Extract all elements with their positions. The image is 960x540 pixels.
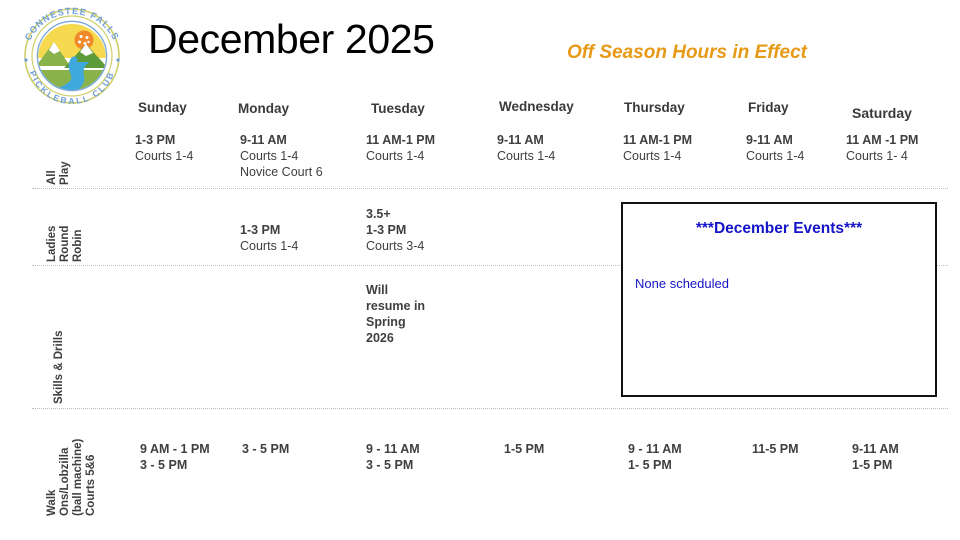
schedule-cell-line: Courts 1-4	[497, 148, 555, 164]
schedule-cell-line: 1-3 PM	[366, 222, 424, 238]
schedule-cell-line: resume in	[366, 298, 425, 314]
schedule-cell-line: 2026	[366, 330, 425, 346]
schedule-cell: 11 AM -1 PMCourts 1- 4	[846, 132, 918, 164]
row-label-line: (ball machine)	[72, 439, 85, 516]
row-label-line: Play	[59, 161, 72, 185]
row-label-line: Skills & Drills	[53, 330, 66, 404]
row-separator-0	[32, 188, 948, 189]
schedule-cell-line: 1-5 PM	[852, 457, 899, 473]
schedule-cell-line: Courts 1-4	[366, 148, 435, 164]
row-label-line: Robin	[72, 226, 85, 262]
day-header-friday: Friday	[748, 100, 789, 115]
row-label-line: Round	[59, 226, 72, 262]
schedule-cell: 9-11 AMCourts 1-4	[746, 132, 804, 164]
schedule-cell: 9-11 AMCourts 1-4Novice Court 6	[240, 132, 323, 180]
page-title: December 2025	[148, 19, 435, 60]
schedule-cell: 1-3 PMCourts 1-4	[240, 222, 298, 254]
schedule-cell-line: Courts 1-4	[135, 148, 193, 164]
schedule-cell: 3.5+1-3 PMCourts 3-4	[366, 206, 424, 254]
row-label-2: Skills & Drills	[53, 330, 66, 404]
schedule-cell-line: 9-11 AM	[852, 441, 899, 457]
schedule-cell: 9-11 AM1-5 PM	[852, 441, 899, 473]
schedule-cell-line: 1-3 PM	[135, 132, 193, 148]
day-header-wednesday: Wednesday	[499, 99, 574, 114]
schedule-cell-line: Courts 1-4	[746, 148, 804, 164]
row-label-3: WalkOns/Lobzilla(ball machine)Courts 5&6	[46, 439, 98, 516]
schedule-cell-line: 3 - 5 PM	[140, 457, 210, 473]
schedule-cell: 1-3 PMCourts 1-4	[135, 132, 193, 164]
calendar-page: CONNESTEE FALLS PICKLEBALL CLUB December…	[0, 0, 960, 540]
schedule-cell-line: Courts 3-4	[366, 238, 424, 254]
schedule-cell-line: 11 AM-1 PM	[623, 132, 692, 148]
schedule-cell-line: 9 AM - 1 PM	[140, 441, 210, 457]
schedule-cell: Willresume inSpring2026	[366, 282, 425, 346]
schedule-cell-line: Courts 1- 4	[846, 148, 918, 164]
schedule-cell-line: Courts 1-4	[240, 148, 323, 164]
day-header-thursday: Thursday	[624, 100, 685, 115]
schedule-cell-line: Courts 1-4	[623, 148, 692, 164]
day-header-monday: Monday	[238, 101, 289, 116]
schedule-cell-line: 1-5 PM	[504, 441, 544, 457]
schedule-cell-line: Spring	[366, 314, 425, 330]
schedule-cell: 9 AM - 1 PM3 - 5 PM	[140, 441, 210, 473]
schedule-cell: 1-5 PM	[504, 441, 544, 457]
december-events-box: ***December Events*** None scheduled	[621, 202, 937, 397]
day-header-sunday: Sunday	[138, 100, 187, 115]
row-label-line: Courts 5&6	[85, 439, 98, 516]
schedule-cell-line: 9-11 AM	[240, 132, 323, 148]
schedule-cell: 3 - 5 PM	[242, 441, 289, 457]
schedule-cell: 11 AM-1 PMCourts 1-4	[366, 132, 435, 164]
events-box-body: None scheduled	[635, 276, 729, 291]
schedule-cell: 9 - 11 AM1- 5 PM	[628, 441, 682, 473]
day-header-tuesday: Tuesday	[371, 101, 425, 116]
schedule-cell-line: 9 - 11 AM	[366, 441, 420, 457]
row-label-line: Ladies	[46, 226, 59, 262]
schedule-cell-line: 9 - 11 AM	[628, 441, 682, 457]
schedule-cell-line: Will	[366, 282, 425, 298]
schedule-cell-line: Novice Court 6	[240, 164, 323, 180]
schedule-cell: 9 - 11 AM3 - 5 PM	[366, 441, 420, 473]
events-box-title: ***December Events***	[623, 220, 935, 238]
schedule-cell-line: 1- 5 PM	[628, 457, 682, 473]
schedule-cell-line: 3.5+	[366, 206, 424, 222]
row-label-1: LadiesRoundRobin	[46, 226, 85, 262]
row-label-line: Walk	[46, 439, 59, 516]
schedule-cell-line: 3 - 5 PM	[366, 457, 420, 473]
row-label-0: AllPlay	[46, 161, 72, 185]
schedule-cell-line: 3 - 5 PM	[242, 441, 289, 457]
schedule-cell: 11 AM-1 PMCourts 1-4	[623, 132, 692, 164]
schedule-cell-line: 9-11 AM	[746, 132, 804, 148]
season-notice: Off Season Hours in Effect	[567, 42, 807, 64]
schedule-cell: 11-5 PM	[752, 441, 799, 457]
schedule-cell-line: 11-5 PM	[752, 441, 799, 457]
row-label-line: All	[46, 161, 59, 185]
connestee-falls-pickleball-club-logo: CONNESTEE FALLS PICKLEBALL CLUB	[8, 4, 136, 108]
row-separator-2	[32, 408, 948, 409]
schedule-cell: 9-11 AMCourts 1-4	[497, 132, 555, 164]
schedule-cell-line: Courts 1-4	[240, 238, 298, 254]
schedule-cell-line: 11 AM -1 PM	[846, 132, 918, 148]
row-label-line: Ons/Lobzilla	[59, 439, 72, 516]
schedule-cell-line: 11 AM-1 PM	[366, 132, 435, 148]
club-logo-svg: CONNESTEE FALLS PICKLEBALL CLUB	[8, 4, 136, 108]
schedule-cell-line: 1-3 PM	[240, 222, 298, 238]
schedule-cell-line: 9-11 AM	[497, 132, 555, 148]
day-header-saturday: Saturday	[852, 105, 912, 121]
